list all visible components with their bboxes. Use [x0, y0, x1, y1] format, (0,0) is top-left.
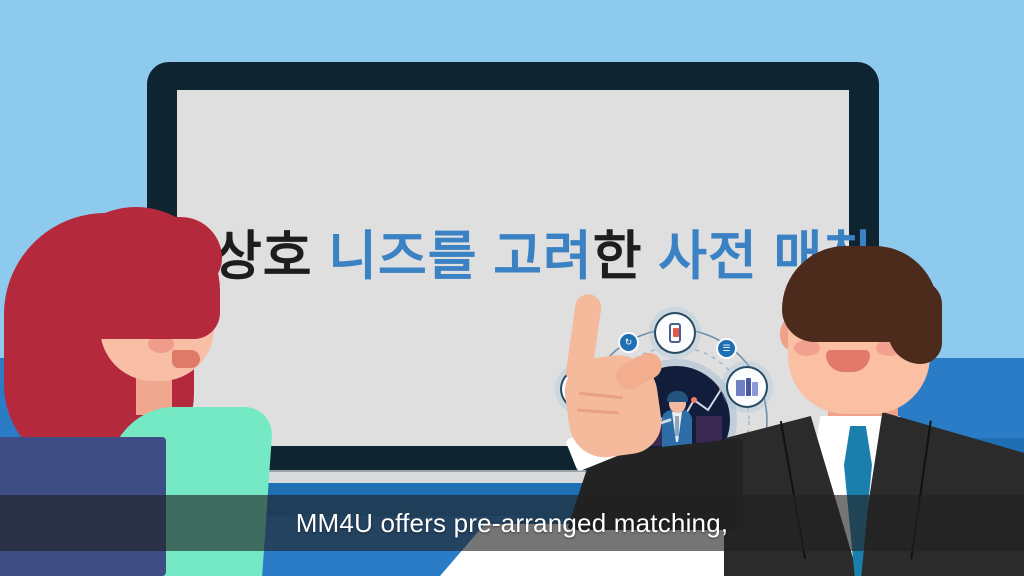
- subtitle-band: MM4U offers pre-arranged matching,: [0, 495, 1024, 551]
- woman-mouth: [172, 350, 200, 368]
- man-blush-left: [794, 340, 820, 356]
- slide-title-part-3: 한: [593, 227, 659, 286]
- video-frame: 상호 니즈를 고려한 사전 매칭: [0, 0, 1024, 576]
- slide-title-part-2: 니즈를 고려: [328, 227, 593, 286]
- woman-hair-fringe: [140, 217, 222, 289]
- subtitle-text: MM4U offers pre-arranged matching,: [296, 508, 729, 539]
- pointing-hand: [545, 298, 745, 528]
- man-hair-side: [888, 280, 942, 364]
